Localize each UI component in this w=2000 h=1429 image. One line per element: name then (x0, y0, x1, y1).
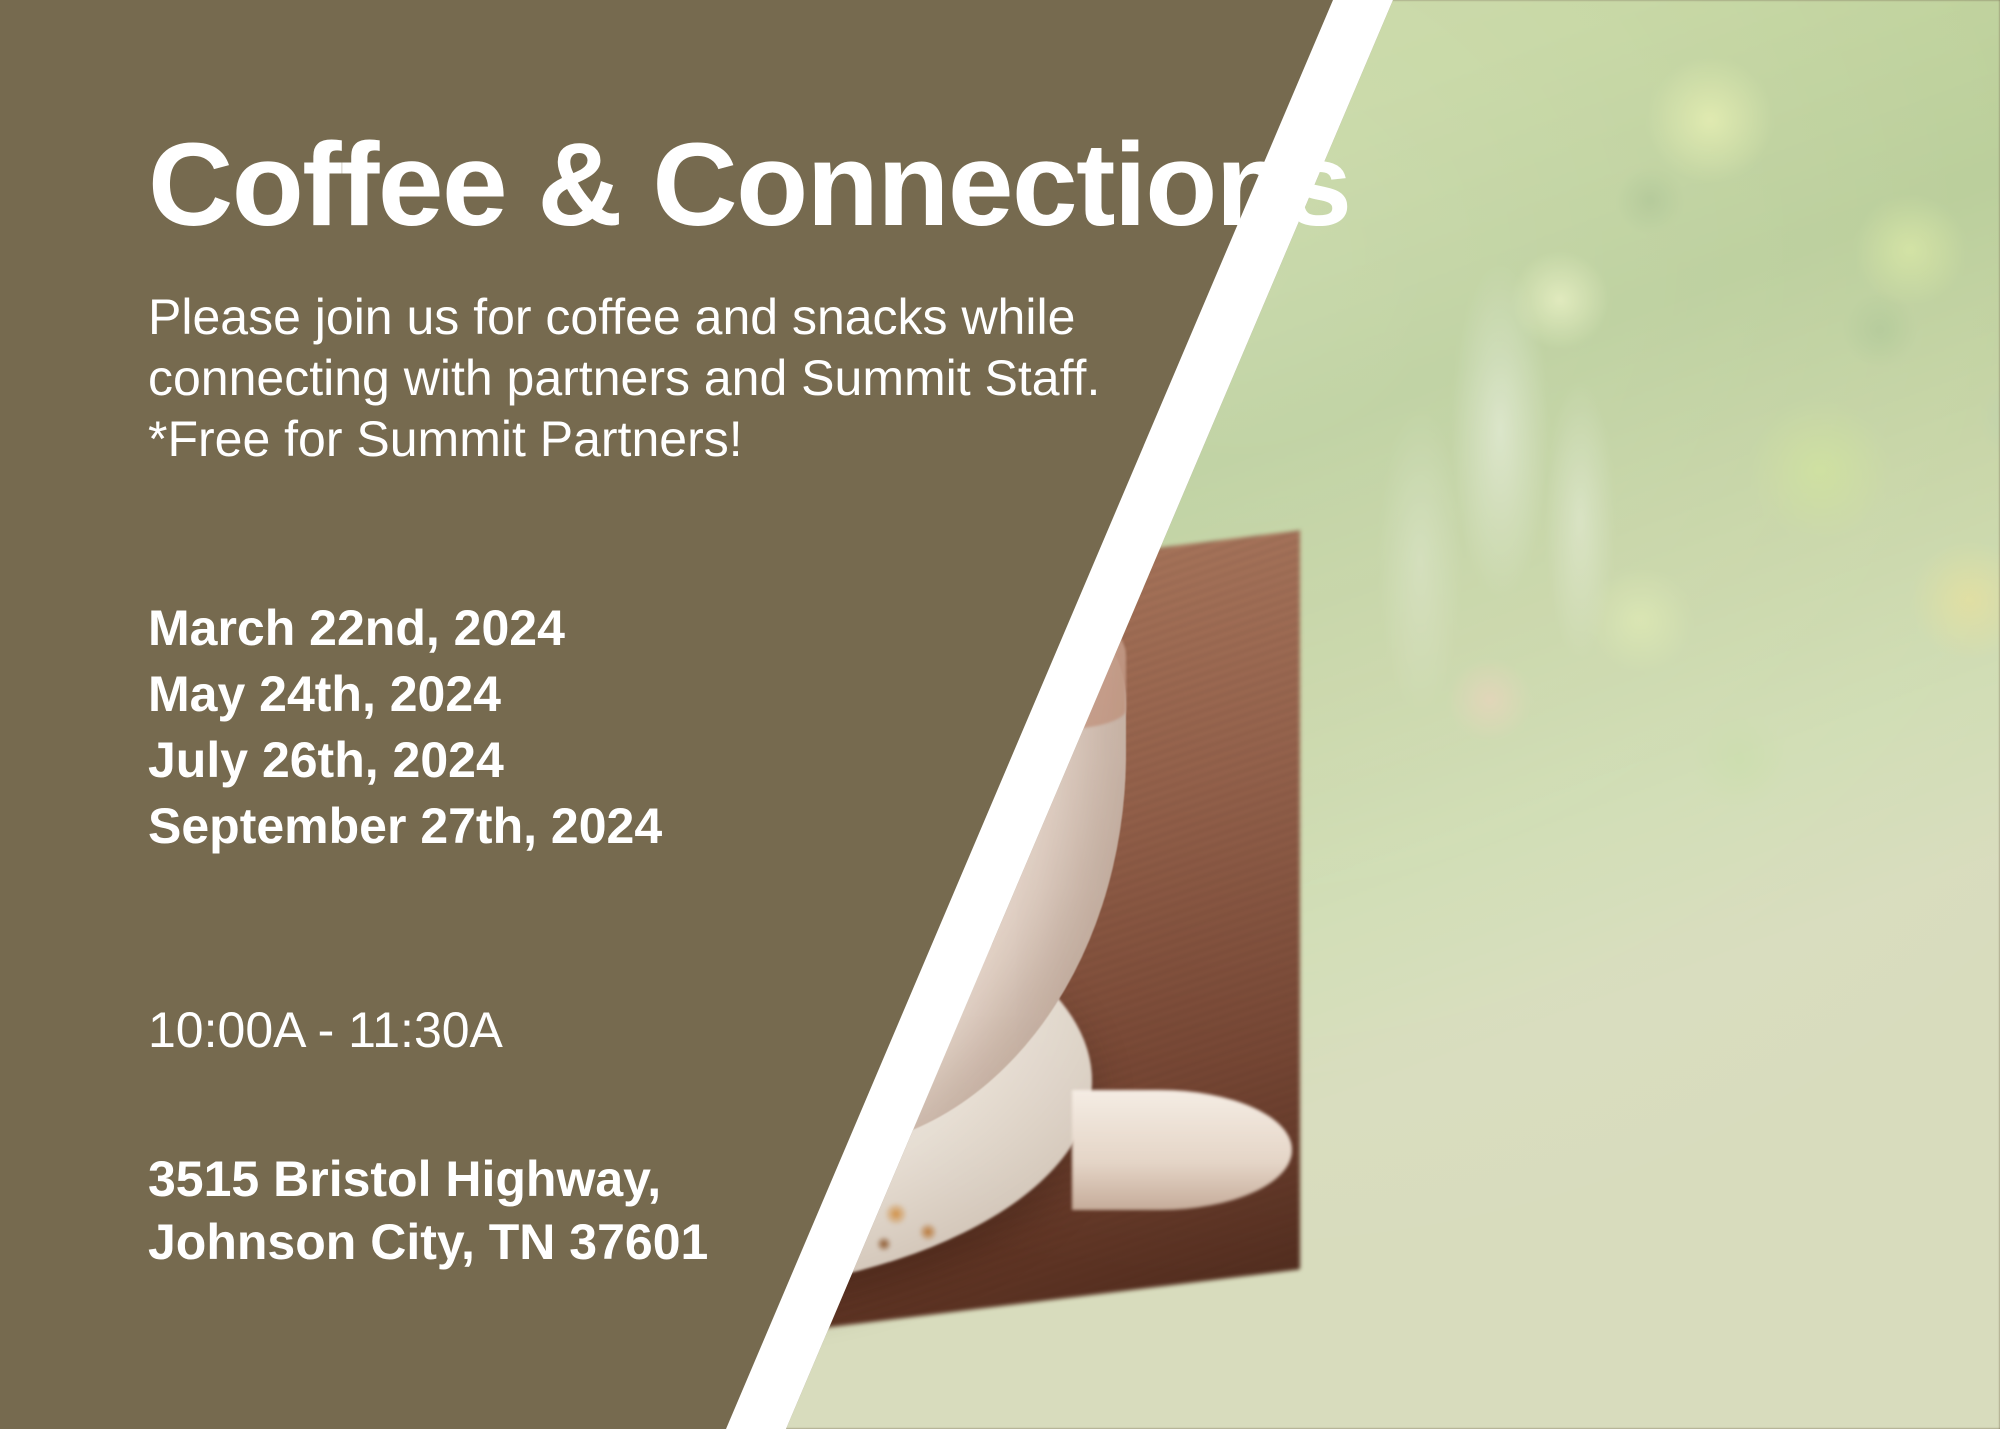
event-date: September 27th, 2024 (148, 793, 662, 859)
event-date: March 22nd, 2024 (148, 595, 662, 661)
text-panel: Coffee & Connections Please join us for … (148, 0, 1228, 1429)
event-flyer: Coffee & Connections Please join us for … (0, 0, 2000, 1429)
event-address: 3515 Bristol Highway, Johnson City, TN 3… (148, 1148, 708, 1273)
intro-line-2: connecting with partners and Summit Staf… (148, 348, 1158, 409)
intro-line-3: *Free for Summit Partners! (148, 409, 1158, 470)
page-title: Coffee & Connections (148, 126, 1351, 244)
event-time: 10:00A - 11:30A (148, 1000, 503, 1060)
event-date: May 24th, 2024 (148, 661, 662, 727)
intro-paragraph: Please join us for coffee and snacks whi… (148, 287, 1158, 470)
event-dates-list: March 22nd, 2024 May 24th, 2024 July 26t… (148, 595, 662, 859)
address-city-state-zip: Johnson City, TN 37601 (148, 1211, 708, 1274)
address-street: 3515 Bristol Highway, (148, 1148, 708, 1211)
event-date: July 26th, 2024 (148, 727, 662, 793)
intro-line-1: Please join us for coffee and snacks whi… (148, 287, 1158, 348)
